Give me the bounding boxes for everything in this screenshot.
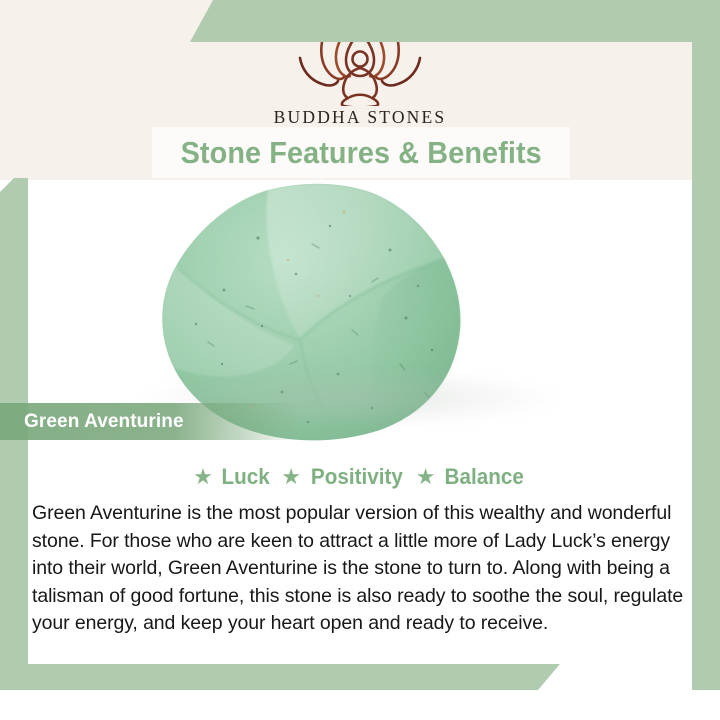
stone-caption-band: Green Aventurine <box>0 403 300 440</box>
infographic-page: BUDDHA STONES Stone Features & Benefits <box>0 0 720 720</box>
stone-caption-label: Green Aventurine <box>0 411 184 433</box>
benefit-label-balance: Balance <box>445 464 524 490</box>
stone-description: Green Aventurine is the most popular ver… <box>0 500 720 638</box>
decor-bottom-band <box>0 664 560 690</box>
page-title-banner: Stone Features & Benefits <box>152 127 570 178</box>
decor-right-band <box>692 0 720 690</box>
benefit-label-positivity: Positivity <box>311 464 403 490</box>
page-title: Stone Features & Benefits <box>180 135 541 171</box>
benefit-item-positivity: ★ Positivity <box>281 464 406 490</box>
benefit-item-balance: ★ Balance <box>416 464 527 490</box>
decor-top-band <box>190 0 720 42</box>
benefit-label-luck: Luck <box>221 464 269 490</box>
benefit-item-luck: ★ Luck <box>193 464 271 490</box>
star-icon: ★ <box>193 466 213 488</box>
brand-name: BUDDHA STONES <box>0 107 720 128</box>
star-icon: ★ <box>416 466 436 488</box>
benefits-list: ★ Luck ★ Positivity ★ Balance <box>0 464 720 490</box>
star-icon: ★ <box>281 466 301 488</box>
